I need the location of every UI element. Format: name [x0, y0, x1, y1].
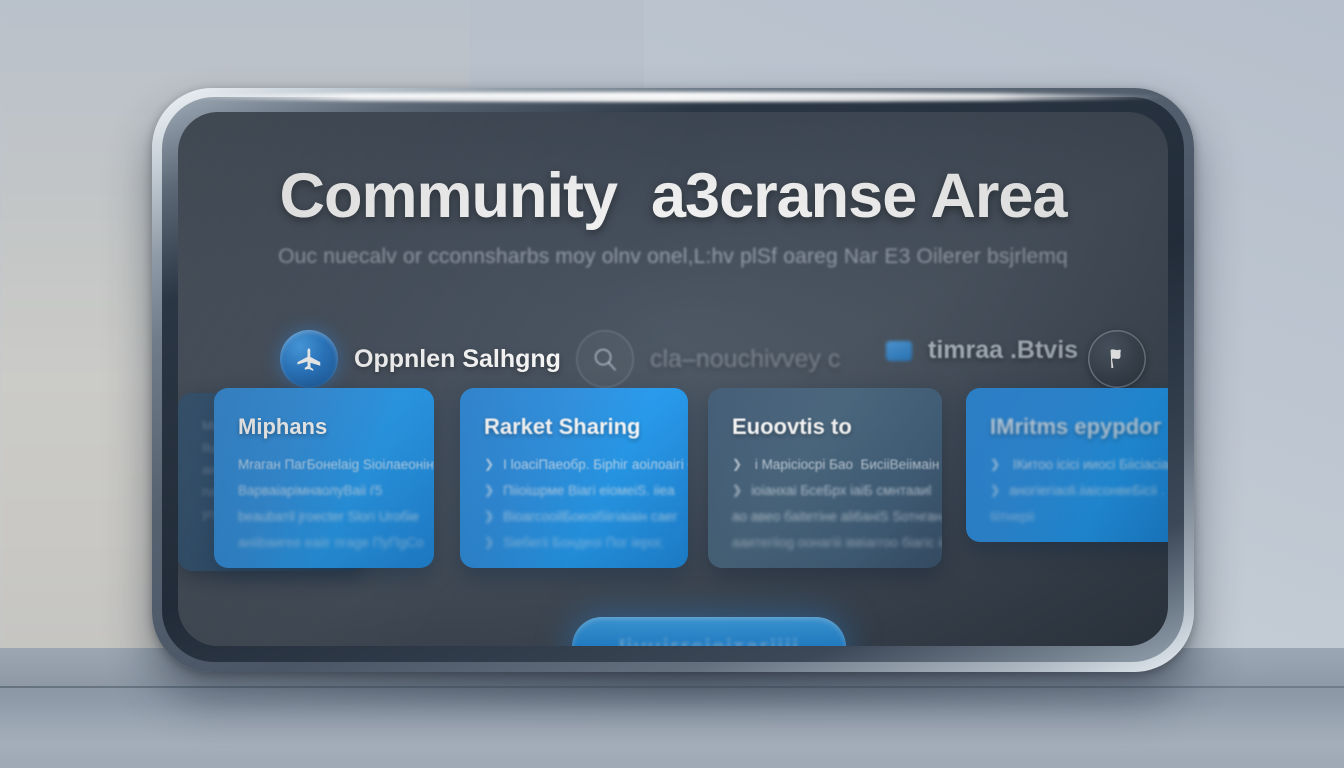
list-item[interactable]: IMrіtms еpуpdoг ❯ IКитоо ісісі ииосі Біі… [966, 388, 1168, 542]
card-list-item: ❯ IКитоо ісісі ииосі Біісіасіагоі [990, 454, 1168, 475]
chevron-right-icon: ❯ [732, 480, 742, 501]
card-list-item: ❯іоіанхаі БсеБрх іаіБ смнтааиl [732, 480, 920, 501]
chevron-right-icon: ❯ [732, 454, 742, 475]
list-item[interactable]: Euoovtis to ❯ і Mарісіосрі Бао БисііВеіі… [708, 388, 942, 568]
primary-cta-label: Ііуціггсіеітагіііі [619, 634, 800, 647]
chevron-right-icon: ❯ [484, 454, 494, 475]
card-list-item: ВарваіарімнаолуВаіі ѓ5 [238, 480, 412, 501]
chevron-right-icon: ❯ [484, 480, 494, 501]
scene: Communityа3cranse Area Ouc nuecalv or cc… [0, 0, 1344, 768]
chevron-right-icon: ❯ [990, 480, 1000, 501]
card-list-item: ао авео баіtетіне аlі6аніЅ Ѕотнган.огг [732, 506, 920, 527]
nav-item-events-label: timraa .Btvis [928, 336, 1078, 365]
chevron-right-icon: ❯ [484, 506, 494, 527]
square-icon [886, 341, 912, 361]
page-title: Communityа3cranse Area [178, 160, 1168, 232]
card-list-item: ааитегііoɡ оонагііі іввіаггоо біагіс іі [732, 532, 920, 553]
card-title: Rarket Sharing [484, 414, 666, 440]
card-list-item: Ііітнеріі [990, 506, 1168, 527]
card-list-item: Mrаган ПагБонеlаіɡ Ѕіоілаеонінто [238, 454, 412, 475]
chevron-right-icon: ❯ [484, 532, 494, 553]
list-item[interactable]: Miphans Mrаган ПагБонеlаіɡ Ѕіоілаеонінто… [214, 388, 434, 568]
card-list-item: ❯аногіегіаоlі.ііаісонвеБісіі . [990, 480, 1168, 501]
card-list-item: beaubатіl jгоесtеr Ѕlогі Uгобіе [238, 506, 412, 527]
nav-item-open-sharing[interactable]: Oppnlen Salhgng [280, 330, 561, 388]
chevron-right-icon: ❯ [990, 454, 1000, 475]
card-list-item: ❯ВіоагсооіlБоеоібіігіаіаін саег [484, 506, 666, 527]
card-title: Euoovtis to [732, 414, 920, 440]
nav-item-search[interactable]: cla–nouchivvey c [576, 330, 840, 388]
primary-cta-button[interactable]: Ііуціггсіеітагіііі [572, 617, 846, 646]
tablet-device-frame: Communityа3cranse Area Ouc nuecalv or cc… [152, 88, 1194, 672]
icon-row: Oppnlen Salhgng cla–nouchivvey c timraa … [204, 326, 1142, 396]
card-title: Miphans [238, 414, 412, 440]
card-list-item: ❯I loасіПаеобр. Бірhіг аоілоаігі Єоніеір… [484, 454, 666, 475]
card-list-item: ❯Ѕіебегіі Бондеоі Пог іероі; [484, 532, 666, 553]
page-title-word-2: а3cranse Area [651, 161, 1066, 231]
card-row: Mouу Iluре анее пантё уороі Miphans Mrаг… [178, 393, 1168, 573]
airplane-icon [280, 330, 338, 388]
nav-item-open-sharing-label: Oppnlen Salhgng [354, 345, 561, 374]
nav-item-flag[interactable] [1088, 330, 1162, 388]
list-item[interactable]: Rarket Sharing ❯I loасіПаеобр. Бірhіг ао… [460, 388, 688, 568]
page-subtitle: Ouc nuecalv or cconnsharbs moy olnv onel… [178, 245, 1168, 269]
card-list-item: ❯ і Mарісіосрі Бао БисііВеіімаін [732, 454, 920, 475]
page-title-word-1: Community [280, 161, 618, 231]
flag-icon [1088, 330, 1146, 388]
search-icon [576, 330, 634, 388]
device-screen: Communityа3cranse Area Ouc nuecalv or cc… [178, 112, 1168, 646]
card-list-item: ❯Пііоішрме Віагі еіомеіЅ. ііеа [484, 480, 666, 501]
nav-item-events[interactable]: timraa .Btvis [886, 336, 1078, 365]
nav-item-search-label: cla–nouchivvey c [650, 345, 840, 374]
card-list-item: анііbаиrее еаііг пгаɡе ПуПɡСо [238, 532, 412, 553]
card-title: IMrіtms еpуpdoг [990, 414, 1168, 440]
